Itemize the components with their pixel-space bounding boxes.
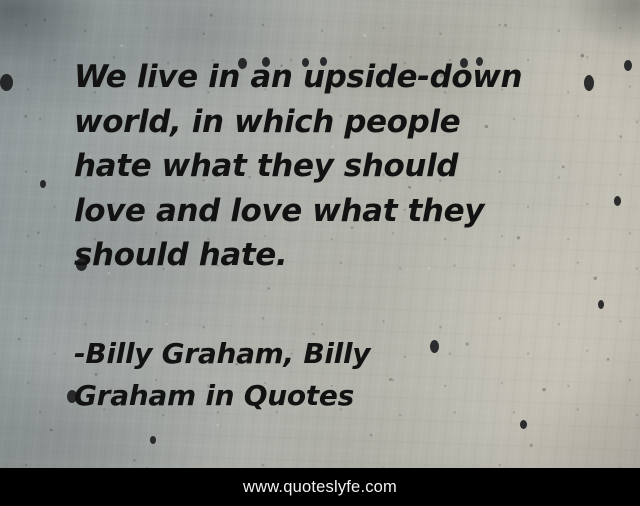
- texture-pit: [40, 180, 46, 188]
- texture-pit: [624, 60, 632, 71]
- quote-line: hate what they should: [74, 144, 594, 189]
- quote-line: should hate.: [74, 233, 594, 278]
- texture-pit: [520, 420, 527, 429]
- texture-pit: [150, 436, 156, 444]
- quote-line: world, in which people: [74, 100, 594, 145]
- texture-pit: [614, 196, 621, 206]
- quote-image-card: We live in an upside-down world, in whic…: [0, 0, 640, 506]
- attribution-line: Graham in Quotes: [74, 375, 594, 417]
- quote-text: We live in an upside-down world, in whic…: [74, 55, 594, 278]
- website-url[interactable]: www.quoteslyfe.com: [243, 478, 397, 497]
- quote-attribution: -Billy Graham, Billy Graham in Quotes: [74, 333, 594, 417]
- footer-bar: www.quoteslyfe.com: [0, 468, 640, 506]
- texture-pit: [0, 74, 13, 91]
- quote-line: love and love what they: [74, 189, 594, 234]
- texture-pit: [598, 300, 604, 309]
- attribution-line: -Billy Graham, Billy: [74, 333, 594, 375]
- quote-line: We live in an upside-down: [74, 55, 594, 100]
